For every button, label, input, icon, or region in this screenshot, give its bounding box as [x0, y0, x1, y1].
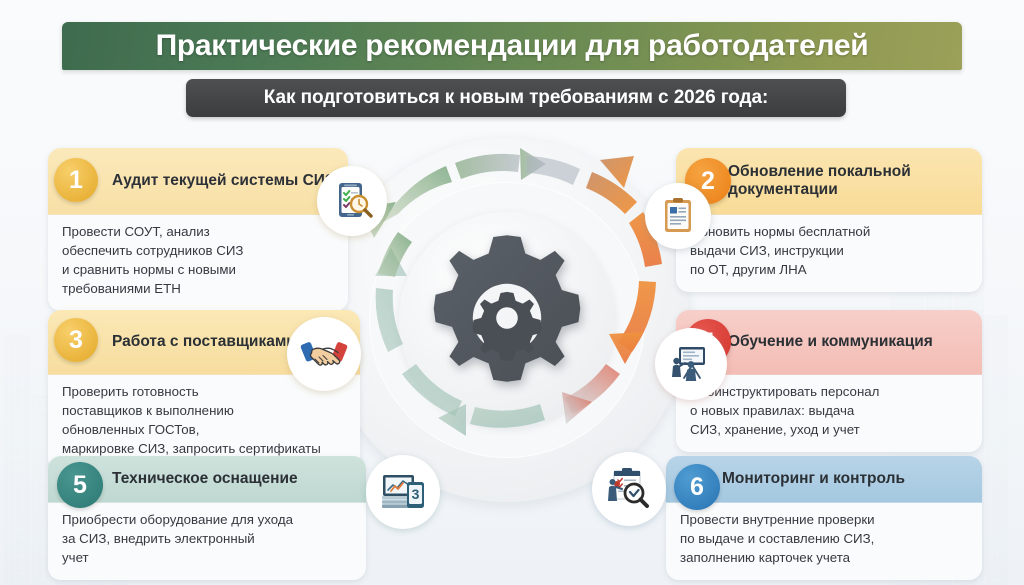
step-card-6-body: Провести внутренние проверки по выдаче и… [666, 502, 982, 580]
step-card-4-text: Проинструктировать персонал о новых прав… [690, 383, 968, 440]
gear-icon [417, 228, 597, 408]
step-card-6-text: Провести внутренние проверки по выдаче и… [680, 511, 968, 568]
subtitle-banner: Как подготовиться к новым требованиям с … [186, 79, 846, 117]
page-subtitle: Как подготовиться к новым требованиям с … [264, 87, 768, 109]
step-card-6-header: 6 Мониторинг и контроль [666, 456, 982, 502]
step-card-1-text: Провести СОУТ, анализ обеспечить сотрудн… [62, 223, 334, 299]
page-title: Практические рекомендации для работодате… [156, 29, 869, 63]
step-card-2-text: Обновить нормы бесплатной выдачи СИЗ, ин… [690, 223, 968, 280]
step-card-2[interactable]: 2 Обновление покальной документации Обно… [676, 148, 982, 292]
step-card-2-header: 2 Обновление покальной документации [676, 148, 982, 214]
step-card-4-body: Проинструктировать персонал о новых прав… [676, 374, 982, 452]
step-card-2-title: Обновление покальной документации [728, 163, 970, 199]
infographic-poster: Практические рекомендации для работодате… [0, 0, 1024, 585]
step-badge-3: 3 [54, 318, 98, 362]
document-clipboard-icon [645, 183, 711, 249]
step-card-3-text: Проверить готовность поставщиков к выпол… [62, 383, 346, 459]
handshake-icon [287, 317, 361, 391]
step-badge-5: 5 [57, 462, 103, 508]
step-card-1-body: Провести СОУТ, анализ обеспечить сотрудн… [48, 214, 348, 311]
step-card-5-body: Приобрести оборудование для ухода за СИЗ… [48, 502, 366, 580]
step-badge-6: 6 [674, 464, 720, 510]
step-card-1-title: Аудит текущей системы СИЗ [112, 172, 335, 190]
monitor-chart-device-icon: 3 [366, 455, 440, 529]
step-badge-1: 1 [54, 158, 98, 202]
step-card-5-text: Приобрести оборудование для ухода за СИЗ… [62, 511, 352, 568]
checklist-magnifier-icon [317, 166, 387, 236]
audit-magnifier-icon [592, 452, 666, 526]
step-card-2-body: Обновить нормы бесплатной выдачи СИЗ, ин… [676, 214, 982, 292]
training-board-icon [655, 328, 727, 400]
step-card-4-title: Обучение и коммуникация [728, 333, 933, 351]
step-card-5-title: Техническое оснащение [112, 470, 298, 488]
header-banner: Практические рекомендации для работодате… [62, 22, 962, 70]
step-card-3-title: Работа с поставщиками [112, 333, 296, 351]
svg-text:3: 3 [412, 486, 420, 502]
step-card-6-title: Мониторинг и контроль [722, 470, 905, 488]
step-card-6[interactable]: 6 Мониторинг и контроль Провести внутрен… [666, 456, 982, 580]
